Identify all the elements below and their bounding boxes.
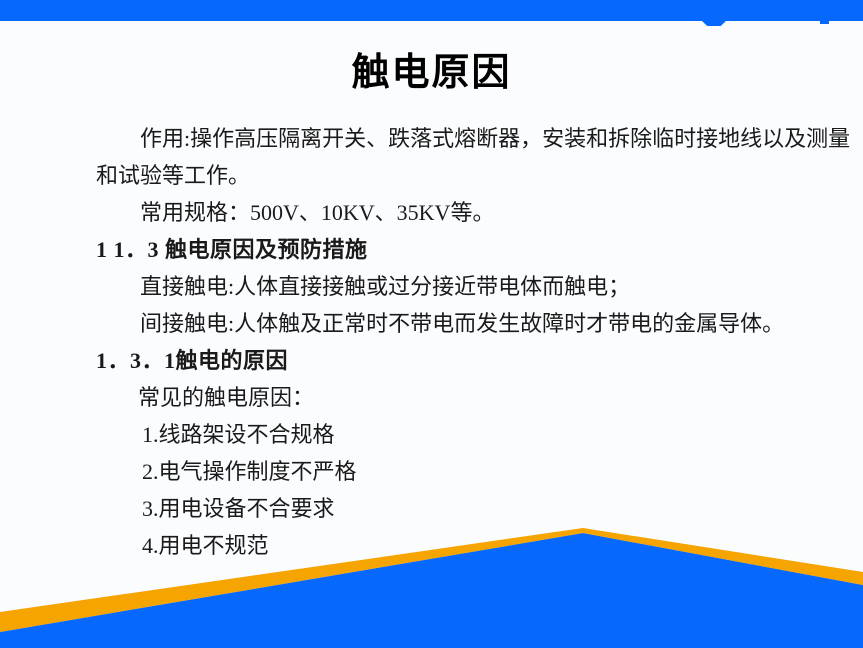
list-item: 3.用电设备不合要求 bbox=[96, 490, 856, 527]
slide-canvas: 触电原因 作用:操作高压隔离开关、跌落式熔断器，安装和拆除临时接地线以及测量和试… bbox=[0, 0, 863, 648]
top-band-notch-shape bbox=[702, 21, 726, 26]
list-item: 4.用电不规范 bbox=[96, 527, 856, 564]
paragraph-function-description: 作用:操作高压隔离开关、跌落式熔断器，安装和拆除临时接地线以及测量和试验等工作。 bbox=[96, 120, 856, 194]
paragraph-common-causes-label: 常见的触电原因： bbox=[96, 379, 856, 416]
list-item: 1.线路架设不合规格 bbox=[96, 416, 856, 453]
heading-section-11-3: 1 1．3 触电原因及预防措施 bbox=[96, 231, 856, 268]
page-title: 触电原因 bbox=[0, 50, 863, 96]
list-item: 2.电气操作制度不严格 bbox=[96, 453, 856, 490]
paragraph-common-specifications: 常用规格：500V、10KV、35KV等。 bbox=[96, 194, 856, 231]
slide-body: 作用:操作高压隔离开关、跌落式熔断器，安装和拆除临时接地线以及测量和试验等工作。… bbox=[96, 120, 856, 564]
heading-section-1-3-1: 1．3．1触电的原因 bbox=[96, 342, 856, 379]
top-blue-band bbox=[0, 0, 863, 21]
paragraph-indirect-shock: 间接触电:人体触及正常时不带电而发生故障时才带电的金属导体。 bbox=[96, 305, 856, 342]
paragraph-direct-shock: 直接触电:人体直接接触或过分接近带电体而触电； bbox=[96, 268, 856, 305]
top-band-tick-shape bbox=[820, 21, 829, 24]
